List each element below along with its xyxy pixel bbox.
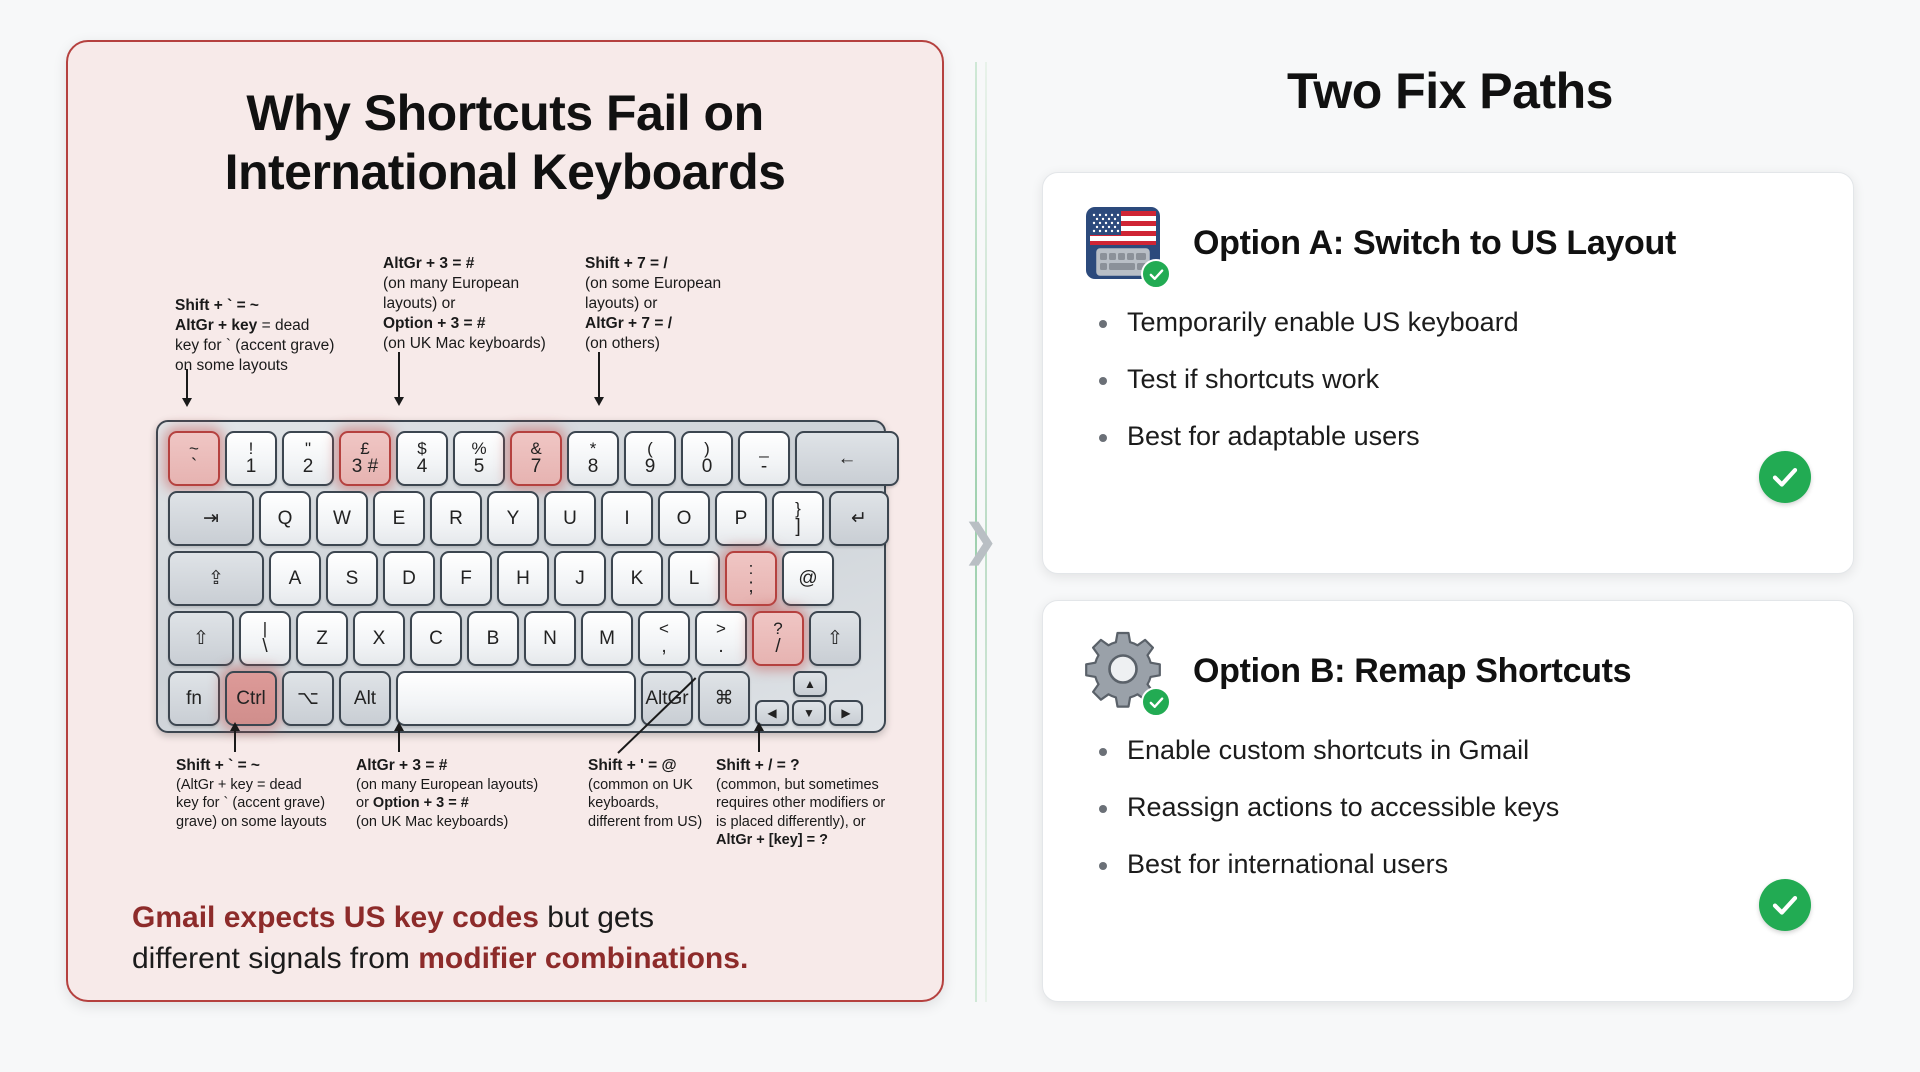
card-a-bullet-3: Best for adaptable users <box>1099 421 1853 452</box>
key-slash[interactable]: ?/ <box>752 611 804 666</box>
bottom-note-hash-l4: (on UK Mac keyboards) <box>356 813 571 832</box>
key-1[interactable]: !1 <box>225 431 277 486</box>
keyboard-graphic: ~`!1"2£3 #$4%5&7*8(9)0_-← ⇥QWERYUIOP}]↵ … <box>156 420 886 733</box>
top-note-slash: Shift + 7 = / (on some European layouts)… <box>585 254 785 354</box>
bottom-note-hash: AltGr + 3 = # (on many European layouts)… <box>356 756 571 831</box>
key-capslock[interactable]: ⇪ <box>168 551 264 606</box>
top-note-tilde-l4: on some layouts <box>175 356 390 376</box>
key-comma[interactable]: <, <box>638 611 690 666</box>
top-note-slash-l4: AltGr + 7 = / <box>585 315 672 332</box>
key-arrow-down[interactable]: ▼ <box>792 700 826 726</box>
left-panel-title: Why Shortcuts Fail on International Keyb… <box>68 84 942 201</box>
key-b[interactable]: B <box>467 611 519 666</box>
key-z-label: Z <box>316 629 328 648</box>
key-tilde-label: ` <box>191 457 197 476</box>
left-title-line2: International Keyboards <box>68 143 942 202</box>
key-7-upper-label: & <box>530 440 541 457</box>
key-8-upper-label: * <box>590 440 597 457</box>
key-9-label: 9 <box>645 457 656 476</box>
key-semicolon-upper-label: : <box>749 560 754 577</box>
key-quote[interactable]: @ <box>782 551 834 606</box>
top-note-hash-l1: AltGr + 3 = # <box>383 255 474 272</box>
bottom-note-tilde-l4: grave) on some layouts <box>176 813 366 832</box>
summary-emphasis-1: Gmail expects US key codes <box>132 901 539 934</box>
key-minus[interactable]: _- <box>738 431 790 486</box>
key-u-label: U <box>563 509 577 528</box>
top-note-hash-l2: (on many European <box>383 274 578 294</box>
key-j-label: J <box>575 569 585 588</box>
key-n[interactable]: N <box>524 611 576 666</box>
bottom-note-tilde: Shift + ` = ~ (AltGr + key = dead key fo… <box>176 756 366 831</box>
key-alt[interactable]: Alt <box>339 671 391 726</box>
card-b-bullet-2: Reassign actions to accessible keys <box>1099 792 1853 823</box>
card-b-check-icon <box>1759 879 1811 931</box>
key-s-label: S <box>346 569 359 588</box>
card-option-b[interactable]: Option B: Remap Shortcuts Enable custom … <box>1042 600 1854 1002</box>
key-x-label: X <box>373 629 386 648</box>
top-note-hash-l5: (on UK Mac keyboards) <box>383 334 578 354</box>
key-2-upper-label: " <box>305 440 311 457</box>
keyboard-row-bottom: ⇧|\ZXCBNM<,>.?/⇧ <box>168 611 874 666</box>
key-9[interactable]: (9 <box>624 431 676 486</box>
key-3[interactable]: £3 # <box>339 431 391 486</box>
key-i[interactable]: I <box>601 491 653 546</box>
key-m[interactable]: M <box>581 611 633 666</box>
key-f[interactable]: F <box>440 551 492 606</box>
key-2[interactable]: "2 <box>282 431 334 486</box>
bottom-note-at-l1: Shift + ' = @ <box>588 756 708 776</box>
card-a-bullet-list: Temporarily enable US keyboard Test if s… <box>1043 285 1853 452</box>
card-b-title: Option B: Remap Shortcuts <box>1193 652 1631 691</box>
bottom-note-question-l3: requires other modifiers or <box>716 794 926 813</box>
key-d[interactable]: D <box>383 551 435 606</box>
key-8-label: 8 <box>588 457 599 476</box>
key-s[interactable]: S <box>326 551 378 606</box>
key-e-label: E <box>393 509 406 528</box>
key-d-label: D <box>402 569 416 588</box>
card-option-a[interactable]: Option A: Switch to US Layout Temporaril… <box>1042 172 1854 574</box>
top-note-hash-l3: layouts) or <box>383 294 578 314</box>
left-title-line1: Why Shortcuts Fail on <box>68 84 942 143</box>
key-0[interactable]: )0 <box>681 431 733 486</box>
key-shift-right[interactable]: ⇧ <box>809 611 861 666</box>
arrow-to-hash-key <box>398 352 400 398</box>
key-slash-label: / <box>775 637 780 656</box>
bottom-note-tilde-l1: Shift + ` = ~ <box>176 756 366 776</box>
keyboard-row-modifier: fnCtrl⌥AltAltGr⌘▲◀▼▶ <box>168 671 874 726</box>
key-q-label: Q <box>278 509 293 528</box>
bottom-note-question-l4: is placed differently), or <box>716 813 926 832</box>
bottom-note-question: Shift + / = ? (common, but sometimes req… <box>716 756 926 850</box>
key-tab-label: ⇥ <box>203 509 219 528</box>
key-period[interactable]: >. <box>695 611 747 666</box>
top-note-hash-l4: Option + 3 = # <box>383 315 486 332</box>
keyboard-row-home: ⇪ASDFHJKL:;@ <box>168 551 874 606</box>
key-command[interactable]: ⌘ <box>698 671 750 726</box>
arrow-to-tilde-key <box>186 369 188 399</box>
key-arrow-up[interactable]: ▲ <box>793 671 827 697</box>
key-7[interactable]: &7 <box>510 431 562 486</box>
arrow-to-ampersand-key <box>598 352 600 398</box>
key-y[interactable]: Y <box>487 491 539 546</box>
key-x[interactable]: X <box>353 611 405 666</box>
card-b-header: Option B: Remap Shortcuts <box>1043 601 1853 713</box>
key-h-label: H <box>516 569 530 588</box>
bottom-note-tilde-l3: key for ` (accent grave) <box>176 794 366 813</box>
key-semicolon-label: ; <box>748 577 753 596</box>
key-backslash-upper-label: | <box>263 620 267 637</box>
key-fn-label: fn <box>186 689 202 708</box>
key-fn[interactable]: fn <box>168 671 220 726</box>
bottom-note-hash-l2: (on many European layouts) <box>356 776 571 795</box>
key-5-upper-label: % <box>471 440 486 457</box>
key-8[interactable]: *8 <box>567 431 619 486</box>
key-tilde[interactable]: ~` <box>168 431 220 486</box>
key-slash-upper-label: ? <box>773 620 782 637</box>
arrow-up-to-ctrl <box>234 730 236 752</box>
key-4[interactable]: $4 <box>396 431 448 486</box>
key-4-label: 4 <box>417 457 428 476</box>
key-comma-upper-label: < <box>659 620 669 637</box>
top-note-slash-l1: Shift + 7 = / <box>585 255 668 272</box>
key-3-label: 3 # <box>352 457 378 476</box>
key-altgr[interactable]: AltGr <box>641 671 693 726</box>
arrow-key-cluster: ▲◀▼▶ <box>755 671 865 726</box>
key-command-label: ⌘ <box>715 689 734 708</box>
key-1-label: 1 <box>246 457 257 476</box>
key-capslock-label: ⇪ <box>208 569 224 588</box>
card-b-bullet-1: Enable custom shortcuts in Gmail <box>1099 735 1853 766</box>
key-7-label: 7 <box>531 457 542 476</box>
top-note-tilde-l1: Shift + ` = ~ <box>175 297 259 314</box>
bottom-note-tilde-l2: (AltGr + key = dead <box>176 776 366 795</box>
key-backspace-label: ← <box>838 449 857 468</box>
infographic-canvas: Why Shortcuts Fail on International Keyb… <box>0 0 1920 1072</box>
key-u[interactable]: U <box>544 491 596 546</box>
key-0-label: 0 <box>702 457 713 476</box>
key-o-label: O <box>677 509 692 528</box>
key-bracket-upper-label: } <box>795 500 801 517</box>
key-9-upper-label: ( <box>647 440 653 457</box>
bottom-note-at-l3: keyboards, <box>588 794 708 813</box>
key-4-upper-label: $ <box>417 440 426 457</box>
key-k[interactable]: K <box>611 551 663 606</box>
key-l[interactable]: L <box>668 551 720 606</box>
key-c-label: C <box>429 629 443 648</box>
key-r-label: R <box>449 509 463 528</box>
key-w-label: W <box>333 509 351 528</box>
key-p[interactable]: P <box>715 491 767 546</box>
key-e[interactable]: E <box>373 491 425 546</box>
top-note-slash-l3: layouts) or <box>585 294 785 314</box>
card-a-title: Option A: Switch to US Layout <box>1193 224 1676 263</box>
card-a-icon-check-badge <box>1141 259 1171 289</box>
card-a-header: Option A: Switch to US Layout <box>1043 173 1853 285</box>
key-b-label: B <box>487 629 500 648</box>
key-shift-left-label: ⇧ <box>193 629 209 648</box>
top-note-tilde-l2a: AltGr + key <box>175 317 257 334</box>
card-a-bullet-1: Temporarily enable US keyboard <box>1099 307 1853 338</box>
card-a-check-icon <box>1759 451 1811 503</box>
key-a-label: A <box>289 569 302 588</box>
key-j[interactable]: J <box>554 551 606 606</box>
bottom-note-at-l2: (common on UK <box>588 776 708 795</box>
left-panel-problem: Why Shortcuts Fail on International Keyb… <box>66 40 944 1002</box>
top-note-tilde-l2b: = dead <box>257 317 309 334</box>
key-period-upper-label: > <box>716 620 726 637</box>
key-ctrl-label: Ctrl <box>236 689 266 708</box>
key-minus-label: - <box>761 457 767 476</box>
bottom-note-at: Shift + ' = @ (common on UK keyboards, d… <box>588 756 708 831</box>
key-w[interactable]: W <box>316 491 368 546</box>
top-note-tilde-l3: key for ` (accent grave) <box>175 336 390 356</box>
us-keyboard-flag-icon <box>1081 201 1165 285</box>
key-5[interactable]: %5 <box>453 431 505 486</box>
key-m-label: M <box>599 629 615 648</box>
bottom-note-hash-l3a: or <box>356 795 373 811</box>
key-shift-left[interactable]: ⇧ <box>168 611 234 666</box>
right-panel-title: Two Fix Paths <box>1040 62 1860 120</box>
key-r[interactable]: R <box>430 491 482 546</box>
key-l-label: L <box>689 569 700 588</box>
key-backspace[interactable]: ← <box>795 431 899 486</box>
arrow-up-to-option <box>398 730 400 752</box>
arrow-up-to-slash <box>758 730 760 752</box>
key-arrow-right[interactable]: ▶ <box>829 700 863 726</box>
key-5-label: 5 <box>474 457 485 476</box>
bottom-note-hash-l1: AltGr + 3 = # <box>356 756 571 776</box>
summary-middle: but gets <box>539 901 654 934</box>
bottom-note-hash-l3b: Option + 3 = # <box>373 795 469 811</box>
card-b-icon-check-badge <box>1141 687 1171 717</box>
summary-plain: different signals from <box>132 942 418 975</box>
key-tilde-upper-label: ~ <box>189 440 199 457</box>
keyboard-row-top: ⇥QWERYUIOP}]↵ <box>168 491 874 546</box>
key-f-label: F <box>460 569 472 588</box>
key-0-upper-label: ) <box>704 440 710 457</box>
key-1-upper-label: ! <box>249 440 254 457</box>
top-note-hash: AltGr + 3 = # (on many European layouts)… <box>383 254 578 354</box>
bottom-note-question-l1: Shift + / = ? <box>716 756 926 776</box>
key-shift-right-label: ⇧ <box>827 629 843 648</box>
key-q[interactable]: Q <box>259 491 311 546</box>
top-note-slash-l2: (on some European <box>585 274 785 294</box>
card-b-bullet-list: Enable custom shortcuts in Gmail Reassig… <box>1043 713 1853 880</box>
key-quote-label: @ <box>798 569 817 588</box>
key-3-upper-label: £ <box>360 440 369 457</box>
key-o[interactable]: O <box>658 491 710 546</box>
top-annotations: Shift + ` = ~ AltGr + key = dead key for… <box>98 254 928 384</box>
key-enter[interactable]: ↵ <box>829 491 889 546</box>
card-a-bullet-2: Test if shortcuts work <box>1099 364 1853 395</box>
key-bracket-label: ] <box>795 517 800 536</box>
key-enter-label: ↵ <box>851 509 867 528</box>
bottom-note-at-l4: different from US) <box>588 813 708 832</box>
key-backslash[interactable]: |\ <box>239 611 291 666</box>
bottom-annotations: Shift + ` = ~ (AltGr + key = dead key fo… <box>98 742 944 877</box>
gear-icon <box>1081 629 1165 713</box>
bottom-note-question-l2: (common, but sometimes <box>716 776 926 795</box>
key-comma-label: , <box>661 637 666 656</box>
key-option[interactable]: ⌥ <box>282 671 334 726</box>
key-space[interactable] <box>396 671 636 726</box>
key-a[interactable]: A <box>269 551 321 606</box>
top-note-tilde: Shift + ` = ~ AltGr + key = dead key for… <box>175 296 390 376</box>
key-k-label: K <box>631 569 644 588</box>
left-panel-summary: Gmail expects US key codes but gets diff… <box>132 897 892 980</box>
key-z[interactable]: Z <box>296 611 348 666</box>
key-p-label: P <box>735 509 748 528</box>
key-alt-label: Alt <box>354 689 376 708</box>
key-minus-upper-label: _ <box>759 440 768 457</box>
key-c[interactable]: C <box>410 611 462 666</box>
key-2-label: 2 <box>303 457 314 476</box>
chevron-right-icon: ❯ <box>962 515 999 566</box>
key-i-label: I <box>624 509 629 528</box>
key-bracket[interactable]: }] <box>772 491 824 546</box>
keyboard-row-number: ~`!1"2£3 #$4%5&7*8(9)0_-← <box>168 431 874 486</box>
key-option-label: ⌥ <box>297 689 319 708</box>
summary-emphasis-2: modifier combinations. <box>418 942 748 975</box>
key-period-label: . <box>718 637 723 656</box>
card-b-bullet-3: Best for international users <box>1099 849 1853 880</box>
key-ctrl[interactable]: Ctrl <box>225 671 277 726</box>
key-n-label: N <box>543 629 557 648</box>
bottom-note-question-l5: AltGr + [key] = ? <box>716 832 828 848</box>
key-backslash-label: \ <box>262 637 267 656</box>
key-h[interactable]: H <box>497 551 549 606</box>
key-tab[interactable]: ⇥ <box>168 491 254 546</box>
top-note-slash-l5: (on others) <box>585 334 785 354</box>
key-semicolon[interactable]: :; <box>725 551 777 606</box>
key-y-label: Y <box>507 509 520 528</box>
